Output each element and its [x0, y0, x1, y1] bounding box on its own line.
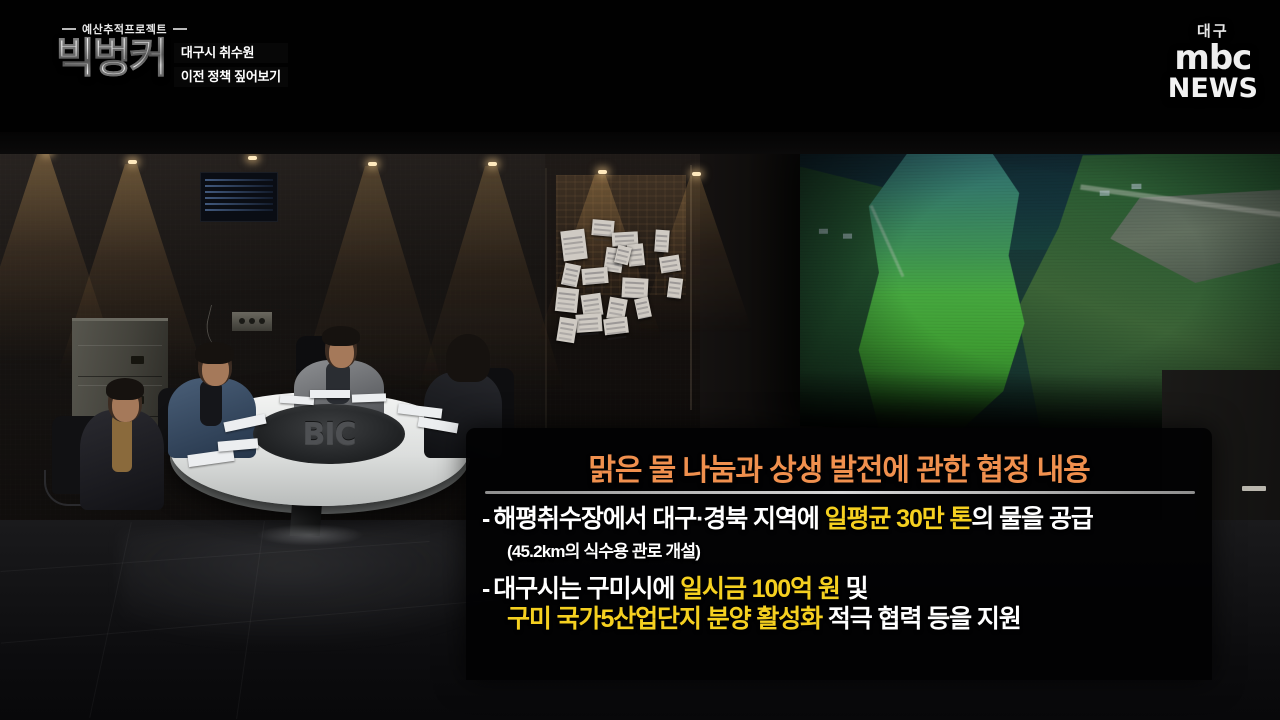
- caption-body: -해평취수장에서 대구·경북 지역에 일평균 30만 톤의 물을 공급 (45.…: [482, 504, 1198, 646]
- bullet-dash-icon: -: [482, 575, 489, 603]
- ceiling-spotlight-icon: [692, 172, 701, 176]
- wall-document: [667, 277, 683, 299]
- kicker-dash-left-icon: [62, 28, 76, 30]
- bullet-2-highlight: 일시금 100억 원: [680, 575, 840, 603]
- caption-bullet-2: -대구시는 구미시에 일시금 100억 원 및 구미 국가5산업단지 분양 활성…: [482, 574, 1198, 634]
- caption-divider: [485, 491, 1195, 494]
- program-subtitle-line-1: 대구시 취수원: [174, 43, 288, 63]
- bullet-2-pre: 대구시는 구미시에: [493, 575, 680, 603]
- program-title: 빅벙커: [56, 37, 166, 79]
- wall-document: [603, 317, 629, 336]
- caption-bullet-2-line-1: -대구시는 구미시에 일시금 100억 원 및: [482, 574, 1198, 604]
- wall-document: [575, 313, 602, 333]
- broadcast-screen: BIC: [0, 0, 1280, 720]
- ceiling-spotlight-icon: [128, 160, 137, 164]
- network-region-label: 대구: [1168, 24, 1258, 39]
- wall-document: [581, 267, 608, 285]
- table-base: [255, 524, 365, 546]
- table-logo: BIC: [253, 404, 405, 464]
- program-brand: 예산추적프로젝트 빅벙커 대구시 취수원 이전 정책 짚어보기: [56, 22, 288, 87]
- program-title-row: 빅벙커 대구시 취수원 이전 정책 짚어보기: [56, 37, 288, 87]
- wall-document: [560, 229, 587, 262]
- bullet-2-line2-highlight: 구미 국가5산업단지 분양 활성화: [507, 605, 822, 633]
- caption-bullet-1-line: -해평취수장에서 대구·경북 지역에 일평균 30만 톤의 물을 공급: [482, 504, 1198, 534]
- table-logo-text: BIC: [302, 417, 355, 452]
- caption-bullet-2-line-2: 구미 국가5산업단지 분양 활성화 적극 협력 등을 지원: [507, 604, 1198, 634]
- network-type-label: NEWS: [1168, 75, 1258, 102]
- lower-third-caption: 맑은 물 나눔과 상생 발전에 관한 협정 내용 -해평취수장에서 대구·경북 …: [466, 428, 1212, 680]
- table-document: [310, 390, 350, 398]
- ceiling-spotlight-icon: [488, 162, 497, 166]
- bullet-dash-icon: -: [482, 505, 489, 533]
- table-document: [352, 393, 386, 402]
- bullet-2-line2-post: 적극 협력 등을 지원: [822, 605, 1021, 633]
- network-logo: 대구 mbc NEWS: [1168, 24, 1258, 102]
- ceiling-spotlight-icon: [598, 170, 607, 174]
- program-subtitle-group: 대구시 취수원 이전 정책 짚어보기: [174, 43, 288, 87]
- wall-document: [556, 317, 578, 344]
- ceiling-spotlight-icon: [368, 162, 377, 166]
- bullet-1-highlight: 일평균 30만 톤: [825, 505, 972, 533]
- caption-bullet-1: -해평취수장에서 대구·경북 지역에 일평균 30만 톤의 물을 공급 (45.…: [482, 504, 1198, 562]
- wall-vent-panel: [200, 172, 278, 222]
- caption-title: 맑은 물 나눔과 상생 발전에 관한 협정 내용: [466, 445, 1212, 489]
- bullet-1-post: 의 물을 공급: [971, 505, 1092, 533]
- bullet-2-post: 및: [840, 575, 868, 603]
- program-subtitle-line-2: 이전 정책 짚어보기: [174, 67, 288, 87]
- ceiling-spotlight-icon: [248, 156, 257, 160]
- wall-document: [555, 287, 579, 313]
- wall-document: [621, 277, 648, 298]
- kicker-dash-right-icon: [173, 28, 187, 30]
- wall-document: [654, 230, 670, 253]
- caption-bullet-1-subnote: (45.2km의 식수용 관로 개설): [507, 537, 1198, 562]
- wall-document: [659, 255, 681, 274]
- network-channel-label: mbc: [1168, 41, 1258, 76]
- bullet-1-pre: 해평취수장에서 대구·경북 지역에: [493, 505, 824, 533]
